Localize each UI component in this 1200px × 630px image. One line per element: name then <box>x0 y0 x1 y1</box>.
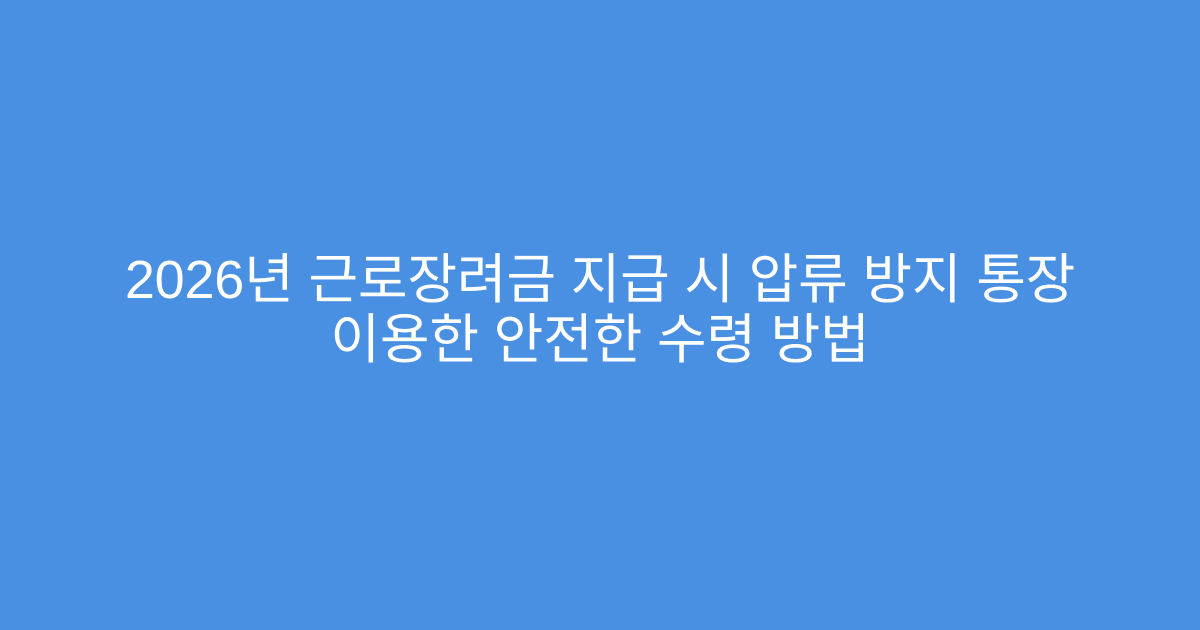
page-title: 2026년 근로장려금 지급 시 압류 방지 통장 이용한 안전한 수령 방법 <box>68 250 1132 370</box>
title-block: 2026년 근로장려금 지급 시 압류 방지 통장 이용한 안전한 수령 방법 <box>68 250 1132 370</box>
og-image-card: 2026년 근로장려금 지급 시 압류 방지 통장 이용한 안전한 수령 방법 <box>0 0 1200 630</box>
